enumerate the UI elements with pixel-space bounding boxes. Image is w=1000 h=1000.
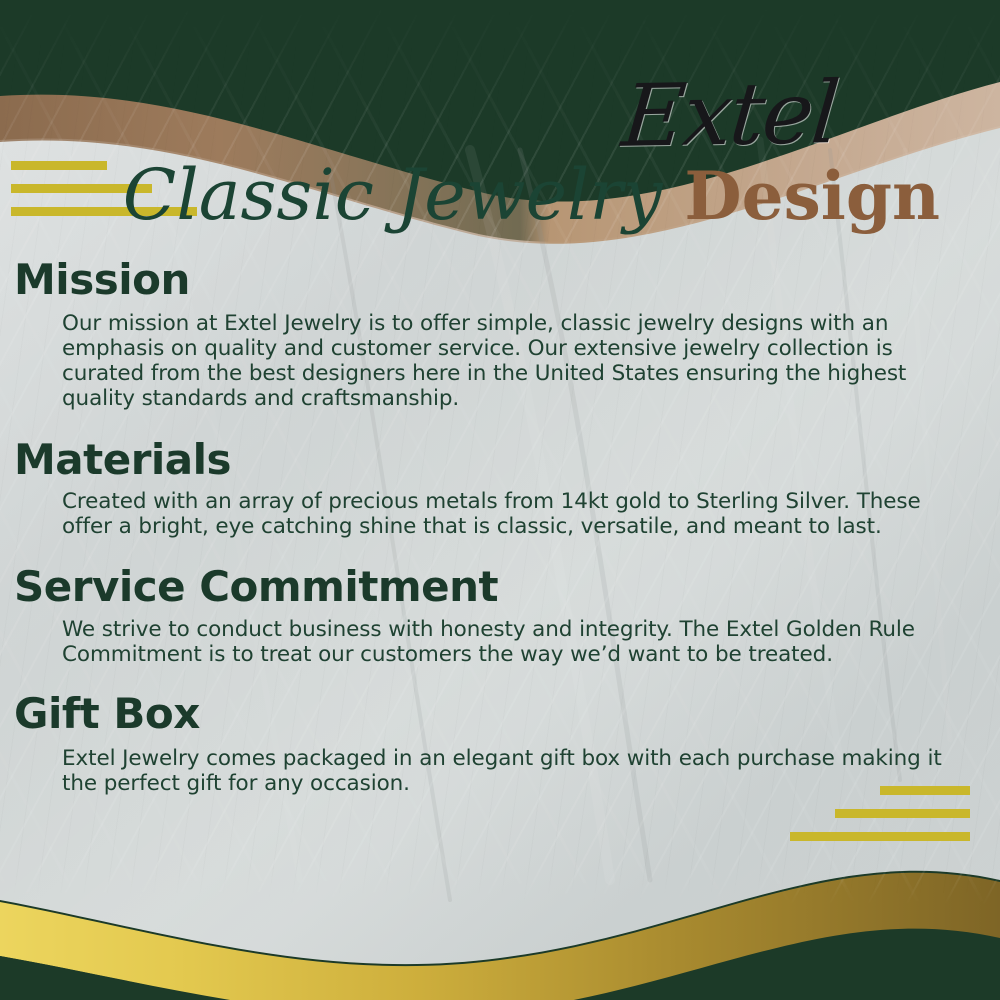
content-sections: Mission Our mission at Extel Jewelry is …	[0, 258, 1000, 796]
section-heading-materials: Materials	[0, 438, 1000, 483]
section-body-materials: Created with an array of precious metals…	[0, 489, 1000, 539]
decor-bars-bottom-right	[790, 786, 970, 855]
section-materials: Materials Created with an array of preci…	[0, 438, 1000, 540]
brand-logo-extel: Extel	[611, 70, 849, 160]
section-heading-gift-box: Gift Box	[0, 692, 1000, 737]
poster-title: Classic Jewelry Design	[0, 160, 1000, 252]
poster-canvas: Extel Classic Jewelry Design Mission Our…	[0, 0, 1000, 1000]
gold-bar-bottom-2	[835, 809, 970, 818]
section-gift-box: Gift Box Extel Jewelry comes packaged in…	[0, 692, 1000, 797]
gold-bar-bottom-3	[790, 832, 970, 841]
title-script-classic-jewelry: Classic Jewelry	[123, 160, 663, 230]
section-body-service-commitment: We strive to conduct business with hones…	[0, 617, 1000, 667]
gold-bar-bottom-1	[880, 786, 970, 795]
section-heading-mission: Mission	[0, 258, 1000, 303]
section-heading-service-commitment: Service Commitment	[0, 565, 1000, 610]
section-body-mission: Our mission at Extel Jewelry is to offer…	[0, 311, 1000, 411]
section-service-commitment: Service Commitment We strive to conduct …	[0, 565, 1000, 667]
section-mission: Mission Our mission at Extel Jewelry is …	[0, 258, 1000, 411]
title-serif-design: Design	[684, 163, 940, 229]
